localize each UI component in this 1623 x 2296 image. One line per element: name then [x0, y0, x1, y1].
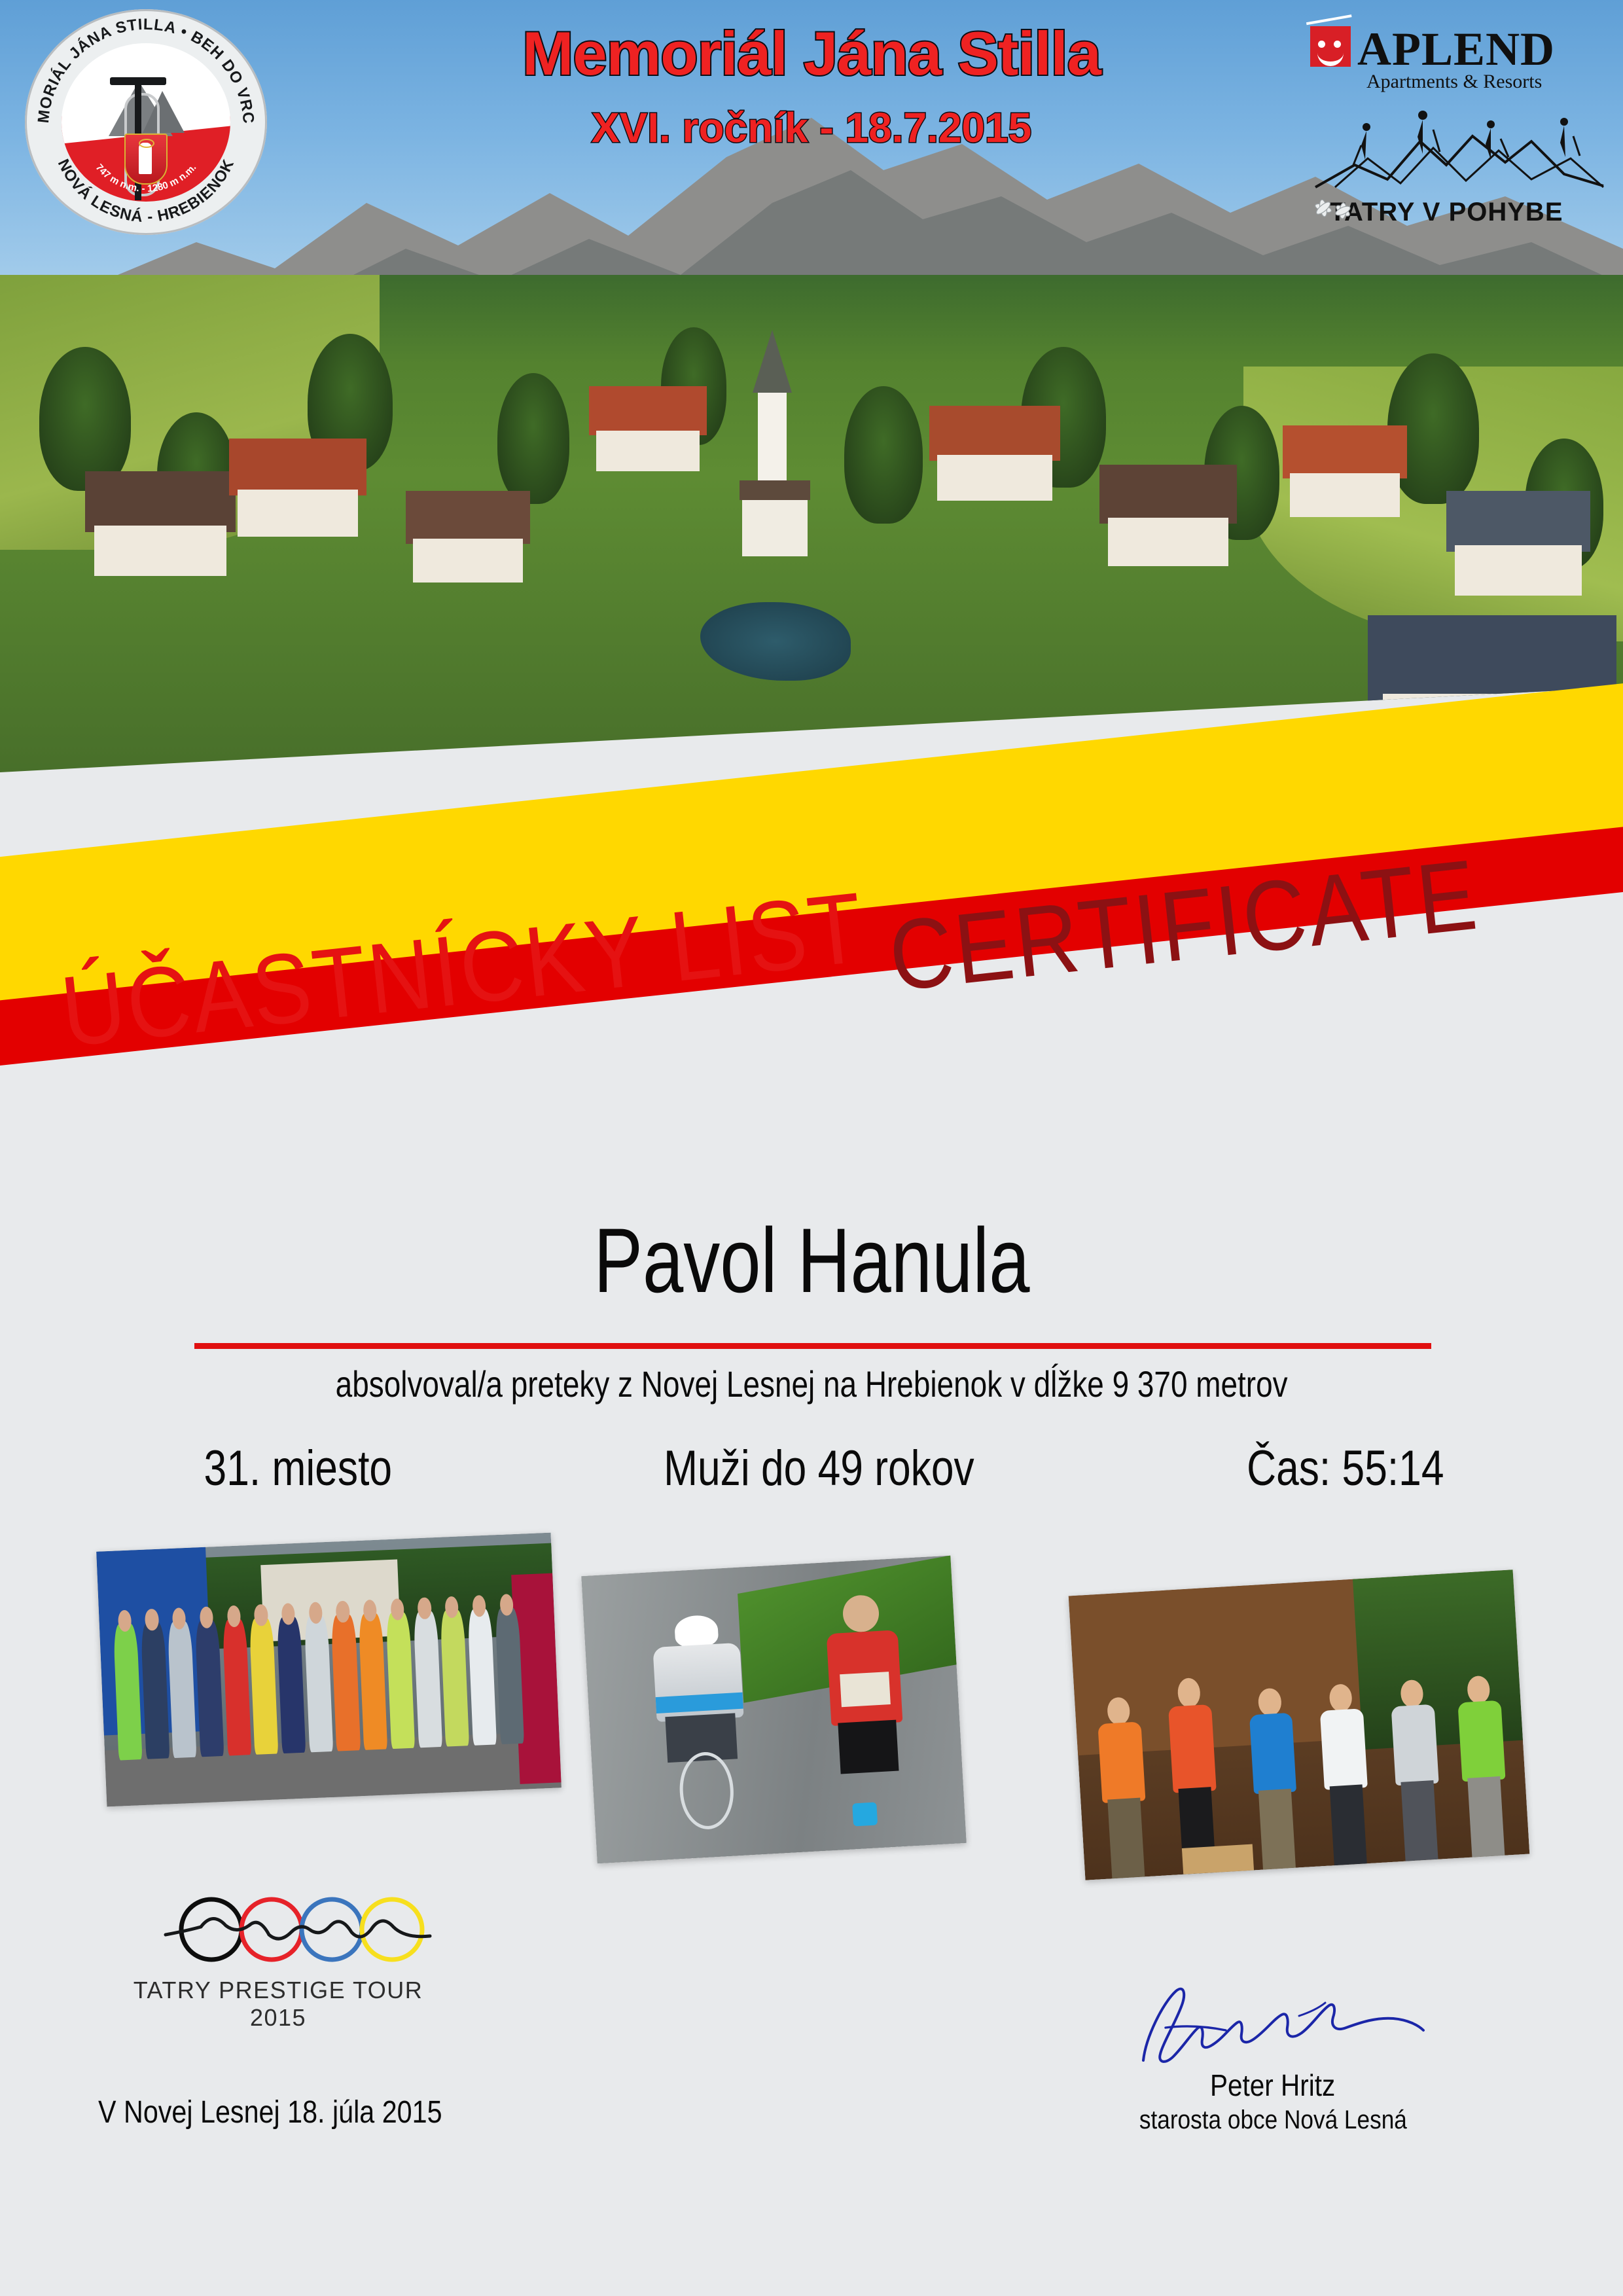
place-and-date: V Novej Lesnej 18. júla 2015 — [98, 2094, 498, 2130]
aplend-tagline: Apartments & Resorts — [1366, 71, 1542, 93]
participant-name: Pavol Hanula — [0, 1208, 1623, 1314]
tatry-prestige-tour-logo: TATRY PRESTIGE TOUR 2015 — [128, 1889, 468, 2026]
mountain-athletes-icon — [1309, 102, 1610, 200]
house — [406, 491, 530, 583]
emblem-arc-top: MEMORIÁL JÁNA STILLA • BEH DO VRCHU — [25, 9, 257, 125]
race-description: absolvoval/a preteky z Novej Lesnej na H… — [0, 1363, 1623, 1405]
signatory-name: Peter Hritz — [1044, 2068, 1502, 2103]
certificate-page: MEMORIÁL JÁNA STILLA • BEH DO VRCHU NOVÁ… — [0, 0, 1623, 2296]
diagonal-bands — [0, 694, 1623, 1100]
svg-text:MEMORIÁL JÁNA STILLA • BEH D: MEMORIÁL JÁNA STILLA • BEH DO VRCHU — [25, 9, 257, 125]
cyclist-and-runner-photo — [581, 1556, 967, 1864]
edelweiss-icon — [1309, 194, 1357, 224]
sponsor-logos: APLEND Apartments & Resorts TATRY V POHY… — [1302, 17, 1610, 233]
event-emblem: MEMORIÁL JÁNA STILLA • BEH DO VRCHU NOVÁ… — [25, 9, 267, 235]
svg-text:747 m n.m. - 1280 m n.m.: 747 m n.m. - 1280 m n.m. — [94, 162, 199, 194]
photo-strip — [0, 1518, 1623, 1931]
aplend-logo: APLEND Apartments & Resorts — [1302, 17, 1610, 96]
house — [1446, 491, 1590, 596]
awards-podium-photo — [1069, 1570, 1530, 1880]
tree — [844, 386, 923, 524]
house — [929, 406, 1060, 501]
aplend-name: APLEND — [1357, 22, 1555, 77]
house — [1283, 425, 1407, 517]
runner — [819, 1593, 914, 1827]
house — [229, 439, 366, 537]
event-subtitle: XVI. ročník - 18.7.2015 — [393, 103, 1230, 152]
tree — [497, 373, 569, 504]
pond — [700, 602, 851, 681]
stat-place: 31. miesto — [183, 1440, 413, 1497]
signatory-role: starosta obce Nová Lesná — [1044, 2106, 1502, 2135]
event-title: Memoriál Jána Stilla — [393, 18, 1230, 89]
four-rings-mountains-icon — [160, 1889, 435, 1967]
name-divider — [194, 1343, 1431, 1349]
tatry-v-pohybe-logo: TATRY V POHYBE — [1309, 102, 1610, 230]
result-stats: 31. miesto Muži do 49 rokov Čas: 55:14 — [157, 1440, 1472, 1497]
tree — [39, 347, 131, 491]
race-start-photo — [96, 1533, 562, 1807]
handwritten-signature — [1103, 1977, 1443, 2072]
signature-block: Peter Hritz starosta obce Nová Lesná — [1044, 1977, 1502, 2135]
tour-label: TATRY PRESTIGE TOUR 2015 — [128, 1977, 429, 2032]
emblem-text: MEMORIÁL JÁNA STILLA • BEH DO VRCHU NOVÁ… — [25, 9, 267, 235]
house — [85, 471, 236, 576]
cyclist — [643, 1613, 758, 1826]
house — [589, 386, 707, 471]
smiling-house-icon — [1310, 26, 1351, 67]
house — [1099, 465, 1237, 566]
emblem-elevation: 747 m n.m. - 1280 m n.m. — [94, 162, 199, 194]
stat-time: Čas: 55:14 — [1225, 1440, 1466, 1497]
stat-category: Muži do 49 rokov — [630, 1440, 1008, 1497]
